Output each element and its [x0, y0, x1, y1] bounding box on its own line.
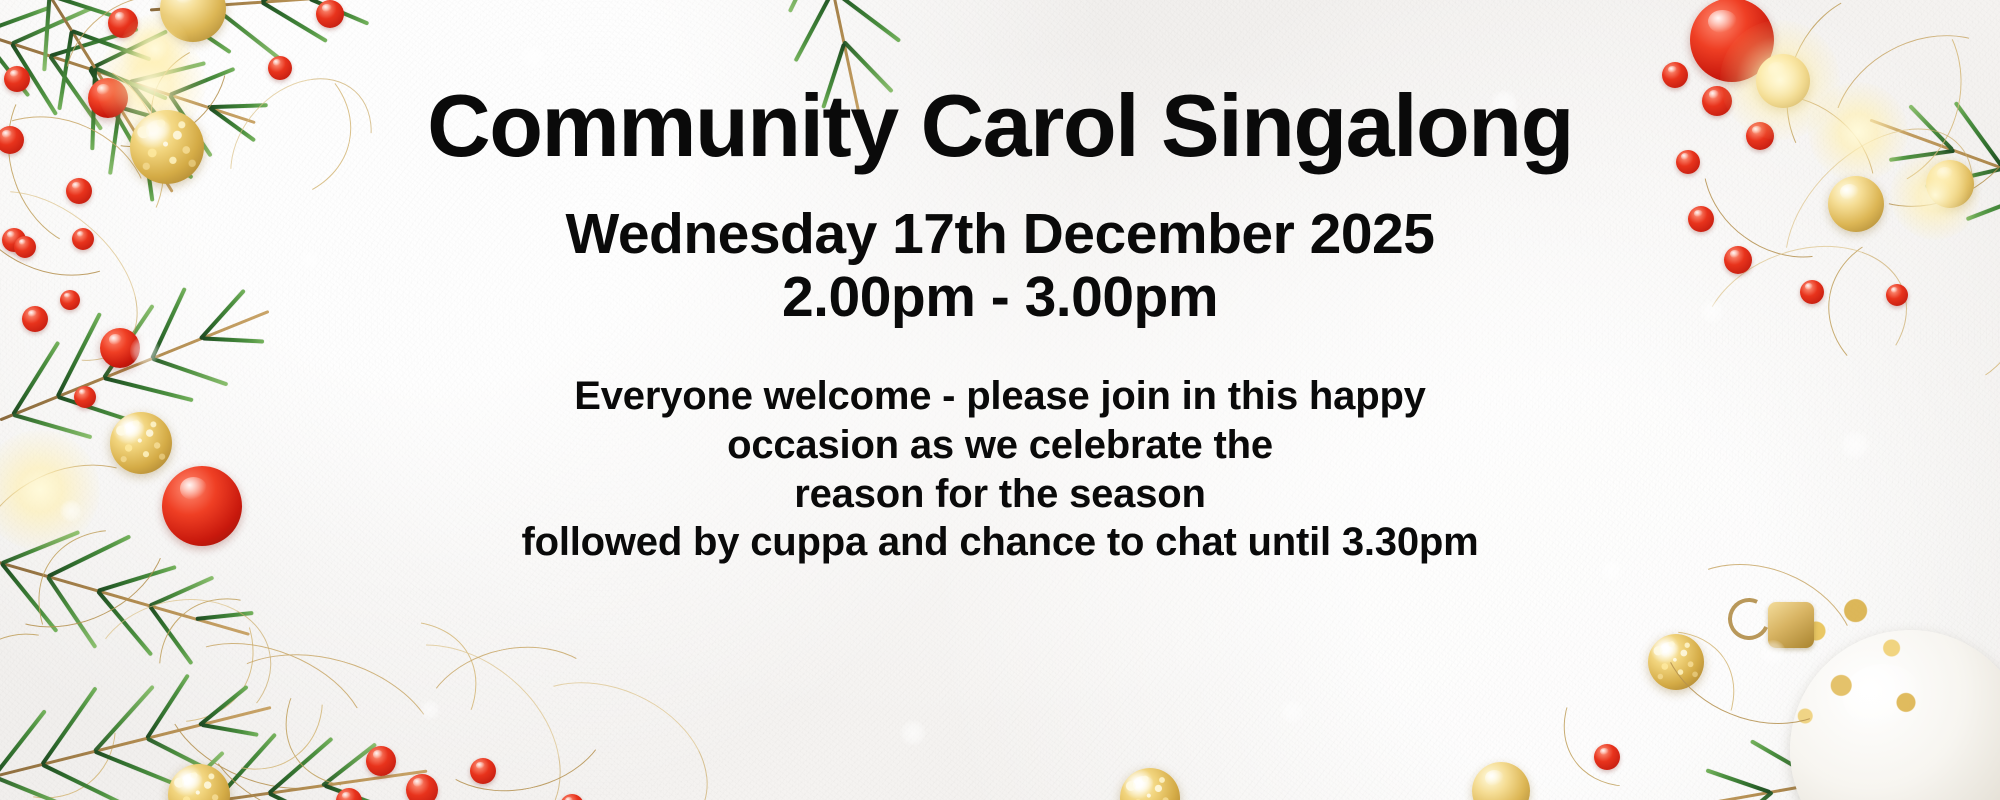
description-line: occasion as we celebrate the — [521, 421, 1478, 470]
event-date: Wednesday 17th December 2025 — [566, 204, 1435, 265]
description-line: Everyone welcome - please join in this h… — [521, 372, 1478, 421]
poster-text-block: Community Carol Singalong Wednesday 17th… — [0, 0, 2000, 800]
page-title: Community Carol Singalong — [427, 82, 1573, 170]
event-time: 2.00pm - 3.00pm — [782, 267, 1218, 328]
description-line: reason for the season — [521, 470, 1478, 519]
description-line: followed by cuppa and chance to chat unt… — [521, 518, 1478, 567]
christmas-event-poster: Community Carol Singalong Wednesday 17th… — [0, 0, 2000, 800]
event-description: Everyone welcome - please join in this h… — [521, 372, 1478, 567]
